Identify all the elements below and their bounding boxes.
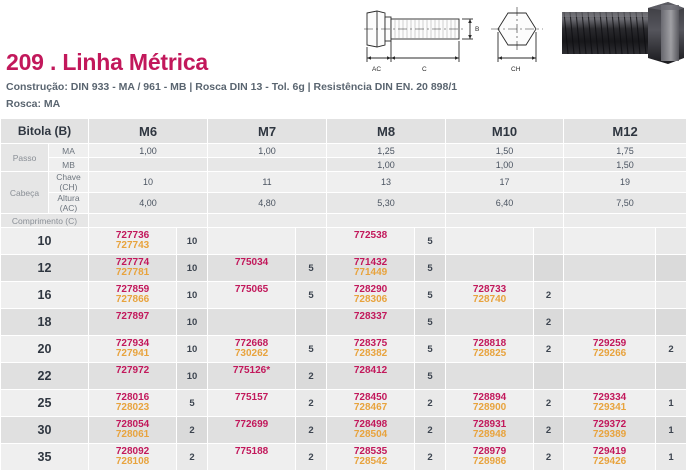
table-body: 1072773672774310772538512727774727781107… [1, 228, 686, 471]
product-code-cell[interactable]: 728498728504 [327, 417, 415, 444]
code-ma: 775126* [233, 366, 270, 376]
code-ma: 775188 [235, 447, 268, 457]
altura-m7: 4,80 [208, 193, 327, 214]
row-length-25: 25 [1, 390, 89, 417]
package-qty-cell: 5 [415, 336, 446, 363]
code-ma: 727897 [116, 312, 149, 322]
product-code-cell[interactable] [446, 228, 534, 255]
chave-m7: 11 [208, 172, 327, 193]
package-qty-cell: 5 [296, 255, 327, 282]
code-mb: 727866 [116, 295, 149, 305]
product-code-cell[interactable]: 728054728061 [89, 417, 177, 444]
table-row: 187278971072833752 [1, 309, 686, 336]
code-ma: 772699 [235, 420, 268, 430]
package-qty-cell: 1 [656, 390, 686, 417]
package-qty-cell [656, 255, 686, 282]
product-code-cell[interactable]: 771432771449 [327, 255, 415, 282]
product-code-cell[interactable]: 727934727941 [89, 336, 177, 363]
package-qty-cell: 2 [656, 336, 686, 363]
code-mb: 728023 [116, 403, 149, 413]
product-code-cell[interactable]: 775065 [208, 282, 296, 309]
code-mb: 728061 [116, 430, 149, 440]
package-qty-cell [656, 309, 686, 336]
package-qty-cell: 2 [534, 417, 564, 444]
spec-label-mb: MB [49, 158, 89, 172]
altura-m8: 5,30 [327, 193, 446, 214]
product-code-cell[interactable]: 729419729426 [564, 444, 656, 471]
header-size-m12: M12 [564, 119, 686, 144]
package-qty-cell: 10 [177, 336, 208, 363]
code-mb: 728986 [473, 457, 506, 467]
package-qty-cell [534, 363, 564, 390]
package-qty-cell: 2 [296, 363, 327, 390]
package-qty-cell: 5 [177, 390, 208, 417]
code-mb: 729389 [593, 430, 626, 440]
row-length-20: 20 [1, 336, 89, 363]
package-qty-cell: 2 [534, 282, 564, 309]
code-ma: 728412 [354, 366, 387, 376]
table-row: 3572809272810827751882728535728542272897… [1, 444, 686, 471]
construction-spec: Construção: DIN 933 - MA / 961 - MB | Ro… [6, 81, 457, 93]
code-mb: 728948 [473, 430, 506, 440]
header-area: 209 . Linha Métrica Construção: DIN 933 … [0, 0, 686, 118]
comp-blank-m8 [327, 214, 446, 228]
code-mb: 728504 [354, 430, 387, 440]
package-qty-cell: 2 [296, 390, 327, 417]
code-ma: 775065 [235, 285, 268, 295]
code-mb: 730262 [235, 349, 268, 359]
package-qty-cell [296, 309, 327, 336]
product-code-cell[interactable]: 728894728900 [446, 390, 534, 417]
code-mb: 728467 [354, 403, 387, 413]
passo-mb-m7 [208, 158, 327, 172]
package-qty-cell: 5 [415, 282, 446, 309]
chave-m10: 17 [446, 172, 564, 193]
table-row: 127277747277811077503457714327714495 [1, 255, 686, 282]
table-header-row: Bitola (B) M6 M7 M8 M10 M12 [1, 119, 686, 144]
comp-blank-m12 [564, 214, 686, 228]
code-mb: 728542 [354, 457, 387, 467]
package-qty-cell [656, 363, 686, 390]
row-length-10: 10 [1, 228, 89, 255]
product-code-cell[interactable]: 775126* [208, 363, 296, 390]
product-code-cell[interactable] [564, 282, 656, 309]
code-ma: 728092 [116, 447, 149, 457]
product-code-cell[interactable] [446, 255, 534, 282]
product-code-cell[interactable]: 772699 [208, 417, 296, 444]
group-label-cabeca: Cabeça [1, 172, 49, 214]
spec-label-ma: MA [49, 144, 89, 158]
specification-table: Bitola (B) M6 M7 M8 M10 M12 Passo MA 1,0… [0, 118, 686, 471]
package-qty-cell [296, 228, 327, 255]
package-qty-cell: 5 [296, 336, 327, 363]
altura-m10: 6,40 [446, 193, 564, 214]
code-ma: 772538 [354, 231, 387, 241]
product-code-cell[interactable]: 728092728108 [89, 444, 177, 471]
package-qty-cell: 5 [296, 282, 327, 309]
product-code-cell[interactable] [446, 363, 534, 390]
code-mb: 728740 [473, 295, 506, 305]
table-row: 2272797210775126*27284125 [1, 363, 686, 390]
code-mb: 728825 [473, 349, 506, 359]
package-qty-cell: 5 [415, 309, 446, 336]
technical-drawing: AC C B CH [358, 2, 558, 74]
dim-label-ch: CH [511, 66, 521, 73]
package-qty-cell: 2 [296, 417, 327, 444]
code-ma: 775034 [235, 258, 268, 268]
spec-row-passo-mb: MB 1,00 1,00 1,50 [1, 158, 686, 172]
code-mb: 727781 [116, 268, 149, 278]
dim-label-ac: AC [372, 66, 381, 73]
row-length-18: 18 [1, 309, 89, 336]
product-code-cell[interactable]: 729259729266 [564, 336, 656, 363]
package-qty-cell: 2 [534, 444, 564, 471]
table-row: 2572801672802357751572728450728467272889… [1, 390, 686, 417]
comp-blank-m7 [208, 214, 327, 228]
hex-bolt-photo [562, 0, 686, 68]
product-code-cell[interactable]: 728818728825 [446, 336, 534, 363]
comp-blank-m10 [446, 214, 564, 228]
product-code-cell[interactable]: 728733728740 [446, 282, 534, 309]
spec-row-passo-ma: Passo MA 1,00 1,00 1,25 1,50 1,75 [1, 144, 686, 158]
altura-m12: 7,50 [564, 193, 686, 214]
package-qty-cell: 5 [415, 255, 446, 282]
product-code-cell[interactable]: 729372729389 [564, 417, 656, 444]
product-code-cell[interactable] [564, 363, 656, 390]
chave-m8: 13 [327, 172, 446, 193]
product-code-cell[interactable]: 727897 [89, 309, 177, 336]
package-qty-cell: 2 [534, 336, 564, 363]
code-mb: 728382 [354, 349, 387, 359]
product-code-cell[interactable] [564, 255, 656, 282]
row-length-16: 16 [1, 282, 89, 309]
code-mb: 728900 [473, 403, 506, 413]
product-code-cell[interactable] [208, 309, 296, 336]
product-code-cell[interactable]: 772668730262 [208, 336, 296, 363]
product-code-cell[interactable]: 728290728306 [327, 282, 415, 309]
package-qty-cell: 2 [296, 444, 327, 471]
code-ma: 728535 [354, 447, 387, 457]
package-qty-cell: 2 [177, 444, 208, 471]
package-qty-cell: 10 [177, 282, 208, 309]
product-code-cell[interactable] [208, 228, 296, 255]
product-code-cell[interactable]: 775034 [208, 255, 296, 282]
package-qty-cell: 2 [534, 390, 564, 417]
thread-spec: Rosca: MA [6, 98, 457, 110]
header-size-m8: M8 [327, 119, 446, 144]
package-qty-cell: 2 [415, 444, 446, 471]
spec-row-chave: Cabeça Chave (CH) 10 11 13 17 19 [1, 172, 686, 193]
product-code-cell[interactable] [564, 309, 656, 336]
code-mb: 729341 [593, 403, 626, 413]
comp-blank-m6 [89, 214, 208, 228]
code-mb: 729426 [593, 457, 626, 467]
product-code-cell[interactable]: 728016728023 [89, 390, 177, 417]
passo-ma-m7: 1,00 [208, 144, 327, 158]
chave-m12: 19 [564, 172, 686, 193]
spec-label-chave: Chave (CH) [49, 172, 89, 193]
package-qty-cell: 1 [656, 417, 686, 444]
group-label-passo: Passo [1, 144, 49, 172]
passo-mb-m10: 1,00 [446, 158, 564, 172]
package-qty-cell [656, 228, 686, 255]
product-code-cell[interactable]: 775157 [208, 390, 296, 417]
product-code-cell[interactable] [564, 228, 656, 255]
table-row: 2072793472794110772668730262572837572838… [1, 336, 686, 363]
passo-ma-m6: 1,00 [89, 144, 208, 158]
package-qty-cell: 2 [534, 309, 564, 336]
product-code-cell[interactable]: 727736727743 [89, 228, 177, 255]
header-size-m10: M10 [446, 119, 564, 144]
package-qty-cell: 2 [415, 390, 446, 417]
package-qty-cell: 10 [177, 309, 208, 336]
product-code-cell[interactable]: 728450728467 [327, 390, 415, 417]
product-code-cell[interactable]: 728337 [327, 309, 415, 336]
product-code-cell[interactable]: 772538 [327, 228, 415, 255]
chave-m6: 10 [89, 172, 208, 193]
product-code-cell[interactable]: 728979728986 [446, 444, 534, 471]
code-ma: 728979 [473, 447, 506, 457]
product-photo [562, 0, 686, 68]
passo-ma-m10: 1,50 [446, 144, 564, 158]
group-label-comprimento: Comprimento (C) [1, 214, 89, 228]
product-code-cell[interactable]: 728412 [327, 363, 415, 390]
table-row: 1672785972786610775065572829072830657287… [1, 282, 686, 309]
product-code-cell[interactable]: 727859727866 [89, 282, 177, 309]
code-mb: 728108 [116, 457, 149, 467]
product-code-cell[interactable]: 727972 [89, 363, 177, 390]
dim-label-c: C [422, 66, 427, 73]
header-size-m6: M6 [89, 119, 208, 144]
package-qty-cell [534, 228, 564, 255]
code-mb: 729266 [593, 349, 626, 359]
table-row: 3072805472806127726992728498728504272893… [1, 417, 686, 444]
package-qty-cell: 2 [415, 417, 446, 444]
code-ma: 727972 [116, 366, 149, 376]
header-size-m7: M7 [208, 119, 327, 144]
package-qty-cell: 1 [656, 444, 686, 471]
code-ma: 729419 [593, 447, 626, 457]
row-length-12: 12 [1, 255, 89, 282]
code-mb: 771449 [354, 268, 387, 278]
code-ma: 728337 [354, 312, 387, 322]
package-qty-cell [656, 282, 686, 309]
header-bitola: Bitola (B) [1, 119, 89, 144]
passo-mb-m6 [89, 158, 208, 172]
dim-label-b: B [475, 26, 479, 33]
passo-ma-m12: 1,75 [564, 144, 686, 158]
package-qty-cell: 5 [415, 363, 446, 390]
product-code-cell[interactable]: 727774727781 [89, 255, 177, 282]
spec-row-comprimento: Comprimento (C) [1, 214, 686, 228]
bolt-dimension-drawing: AC C B CH [358, 2, 558, 74]
passo-mb-m8: 1,00 [327, 158, 446, 172]
catalog-page: 209 . Linha Métrica Construção: DIN 933 … [0, 0, 686, 450]
row-length-30: 30 [1, 417, 89, 444]
product-code-cell[interactable]: 728535728542 [327, 444, 415, 471]
package-qty-cell: 10 [177, 363, 208, 390]
passo-mb-m12: 1,50 [564, 158, 686, 172]
product-code-cell[interactable]: 729334729341 [564, 390, 656, 417]
passo-ma-m8: 1,25 [327, 144, 446, 158]
spec-row-altura: Altura (AC) 4,00 4,80 5,30 6,40 7,50 [1, 193, 686, 214]
row-length-35: 35 [1, 444, 89, 471]
code-mb: 728306 [354, 295, 387, 305]
package-qty-cell [534, 255, 564, 282]
code-mb: 727941 [116, 349, 149, 359]
table-row: 10727736727743107725385 [1, 228, 686, 255]
altura-m6: 4,00 [89, 193, 208, 214]
package-qty-cell: 10 [177, 228, 208, 255]
package-qty-cell: 10 [177, 255, 208, 282]
package-qty-cell: 2 [177, 417, 208, 444]
code-mb: 727743 [116, 241, 149, 251]
product-code-cell[interactable]: 728931728948 [446, 417, 534, 444]
code-ma: 775157 [235, 393, 268, 403]
package-qty-cell: 5 [415, 228, 446, 255]
row-length-22: 22 [1, 363, 89, 390]
product-code-cell[interactable]: 775188 [208, 444, 296, 471]
product-code-cell[interactable]: 728375728382 [327, 336, 415, 363]
spec-label-altura: Altura (AC) [49, 193, 89, 214]
product-code-cell[interactable] [446, 309, 534, 336]
